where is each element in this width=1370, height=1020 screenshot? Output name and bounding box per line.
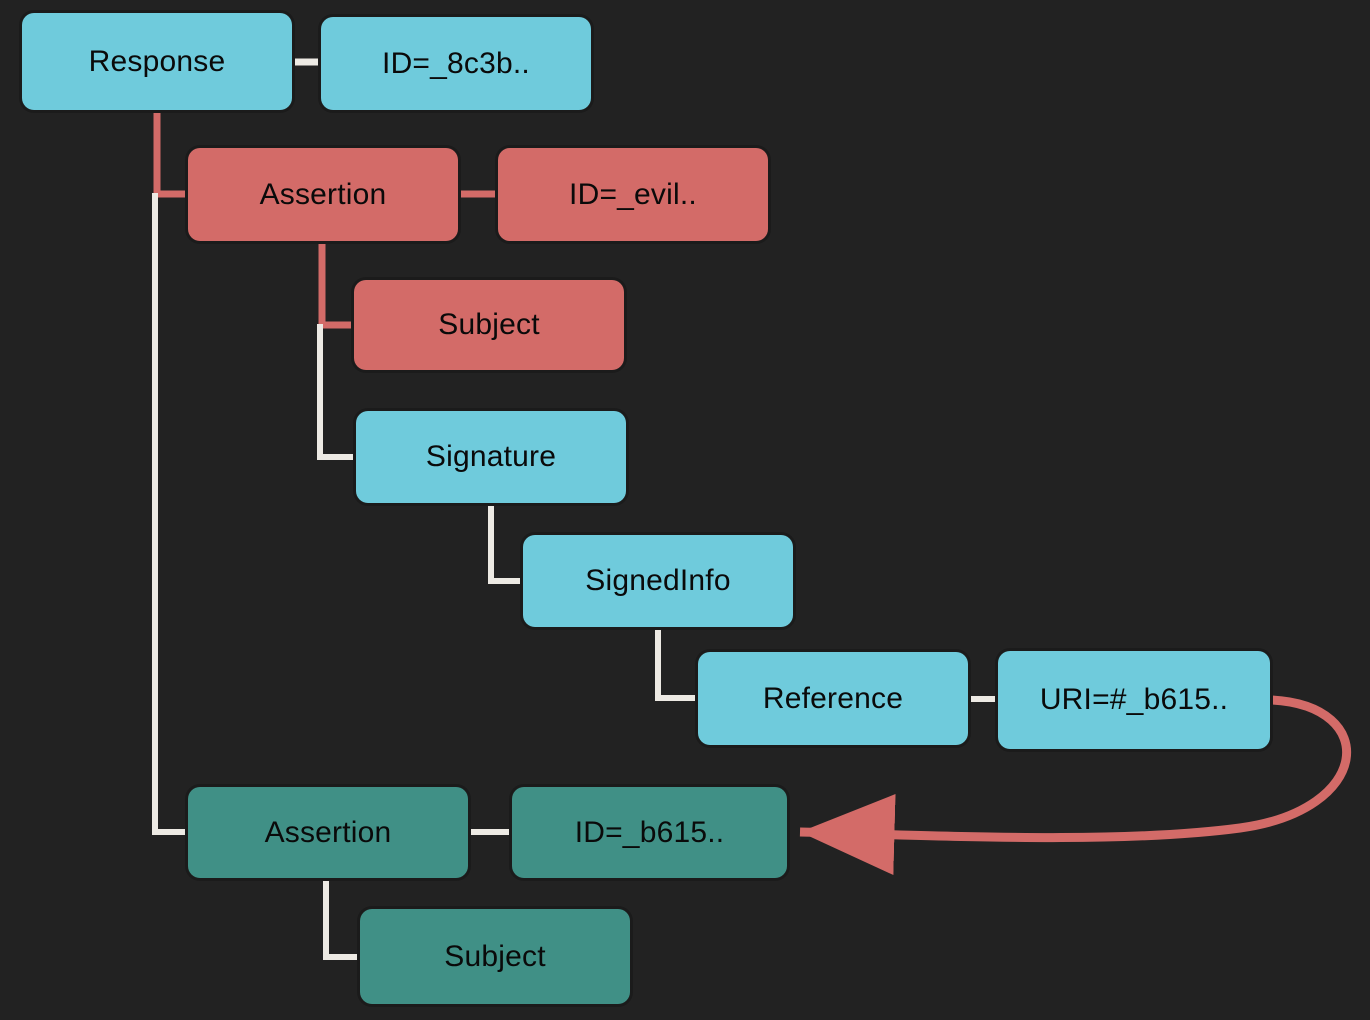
- node-label: ID=_8c3b..: [382, 47, 530, 81]
- node-signedinfo[interactable]: SignedInfo: [523, 535, 793, 627]
- node-response[interactable]: Response: [22, 13, 292, 110]
- edge-signedinfo-to-reference: [658, 627, 699, 698]
- node-label: SignedInfo: [585, 564, 730, 598]
- edge-assertion-good-to-subject: [326, 878, 361, 957]
- node-assertion-evil-id[interactable]: ID=_evil..: [498, 148, 768, 241]
- node-assertion-evil[interactable]: Assertion: [188, 148, 458, 241]
- node-subject-good[interactable]: Subject: [360, 909, 630, 1004]
- diagram-canvas: Response ID=_8c3b.. Assertion ID=_evil..…: [0, 0, 1370, 1020]
- node-reference[interactable]: Reference: [698, 652, 968, 745]
- node-label: Response: [89, 45, 226, 79]
- node-label: ID=_evil..: [569, 178, 697, 212]
- node-subject-evil[interactable]: Subject: [354, 280, 624, 370]
- node-uri[interactable]: URI=#_b615..: [998, 651, 1270, 749]
- node-label: Signature: [426, 440, 556, 474]
- node-signature[interactable]: Signature: [356, 411, 626, 503]
- edge-assertion-evil-to-signature: [320, 324, 357, 457]
- node-label: ID=_b615..: [575, 816, 725, 850]
- edge-signature-to-signedinfo: [491, 503, 524, 581]
- edge-response-to-assertion-evil: [157, 110, 189, 194]
- node-assertion-good[interactable]: Assertion: [188, 787, 468, 878]
- node-label: Subject: [444, 940, 545, 974]
- edge-assertion-evil-to-subject: [322, 241, 355, 325]
- node-label: URI=#_b615..: [1040, 683, 1228, 717]
- node-label: Assertion: [260, 178, 387, 212]
- edge-response-to-assertion-good: [155, 193, 189, 832]
- node-label: Assertion: [265, 816, 392, 850]
- node-label: Reference: [763, 682, 903, 716]
- node-assertion-good-id[interactable]: ID=_b615..: [512, 787, 787, 878]
- node-response-id[interactable]: ID=_8c3b..: [321, 17, 591, 110]
- node-label: Subject: [438, 308, 539, 342]
